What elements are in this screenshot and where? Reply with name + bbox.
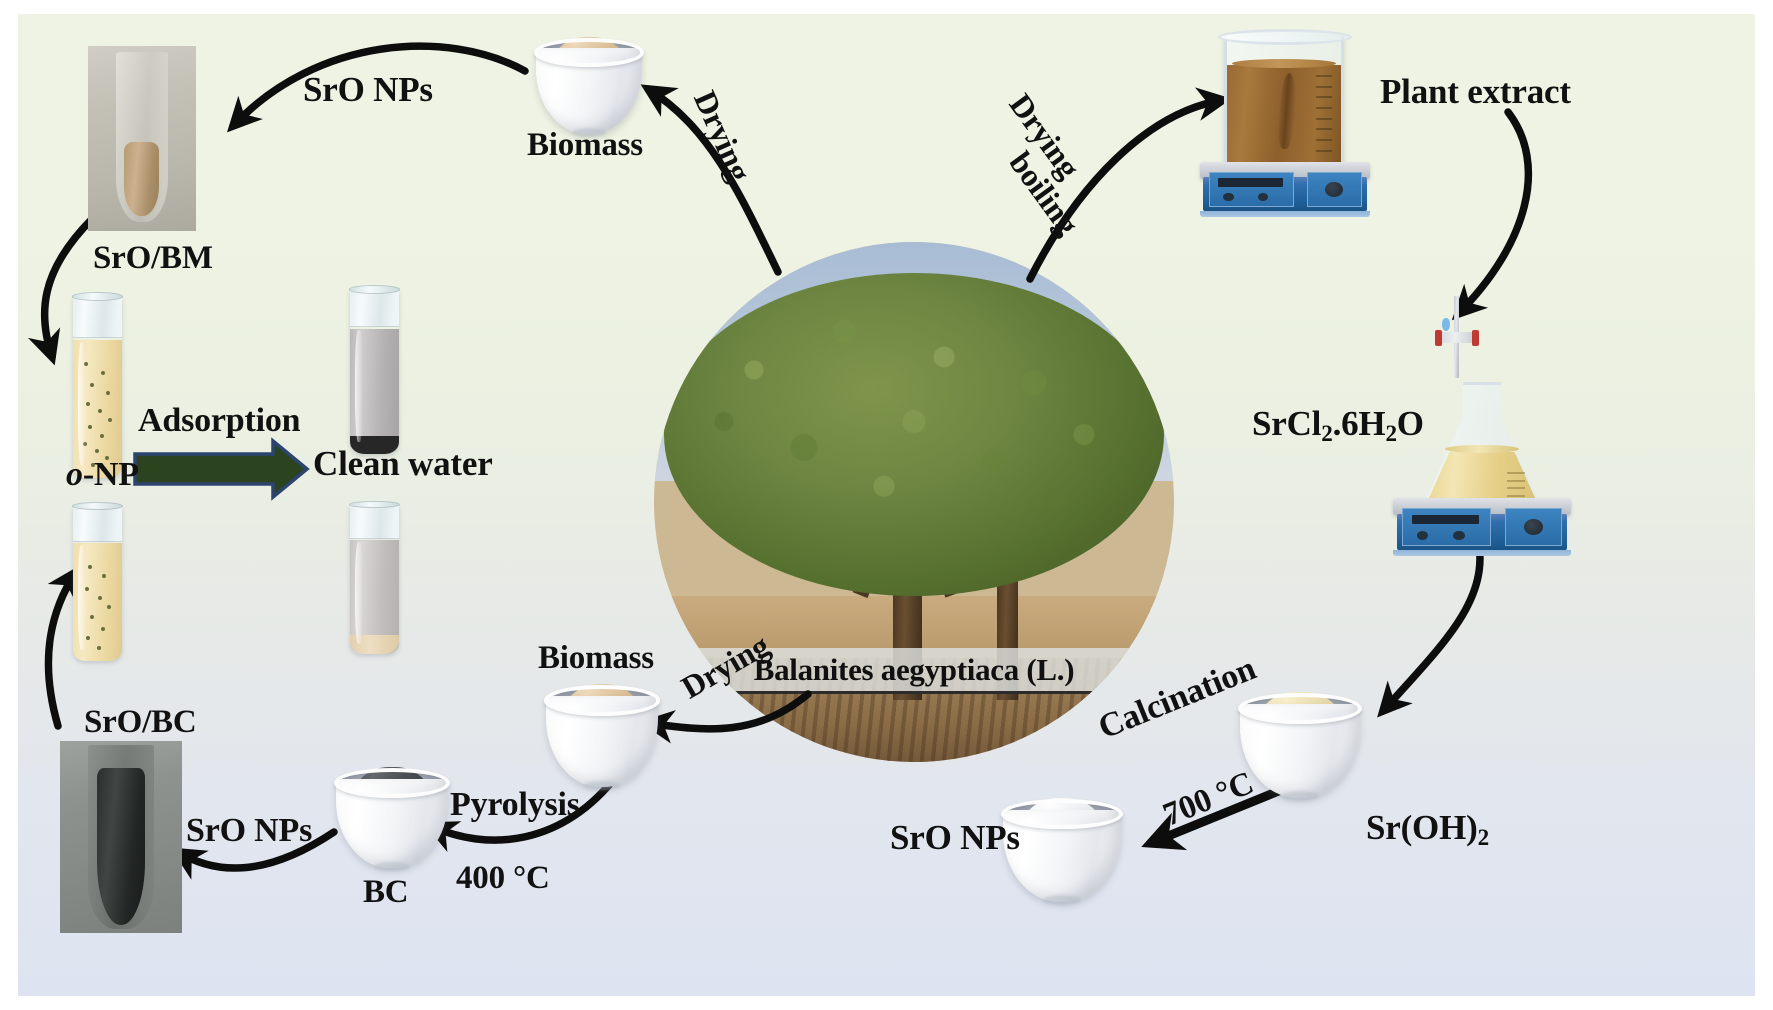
flask-srcl2 (1423, 382, 1541, 512)
bowl-foot (374, 862, 410, 872)
label-onp: o-NP (66, 458, 139, 492)
label-srcl2: SrCl2.6H2O (1252, 406, 1424, 445)
burette-handle-left[interactable] (1435, 330, 1442, 346)
hotplate-right-panel (1505, 508, 1562, 545)
water-droplet (1442, 318, 1451, 331)
tube-cap-top (349, 285, 400, 294)
hotplate-srcl2 (1393, 498, 1571, 556)
hotplate-display (1218, 178, 1283, 187)
label-sr-hydroxide: Sr(OH)2 (1366, 810, 1489, 849)
test-tube-clean-water-upper (350, 289, 399, 454)
burette-stand (1433, 296, 1481, 378)
tube-body (73, 296, 122, 478)
srcl2-mid: .6H (1333, 404, 1386, 443)
label-bc: BC (363, 876, 408, 909)
tube-body (350, 289, 399, 454)
beaker-spout (1218, 29, 1352, 45)
label-temp-700: 700 °C (1159, 767, 1258, 833)
glass-highlight (78, 342, 86, 466)
tube-cap (350, 289, 399, 327)
hotplate-base (1200, 211, 1370, 217)
bowl-rim-lip (1238, 693, 1362, 724)
graduation-marks (1307, 73, 1332, 155)
hotplate-knob-small-right[interactable] (1258, 193, 1269, 202)
bowl-foot (1043, 895, 1081, 905)
glass-highlight (355, 330, 363, 442)
test-tube-onp-upper (73, 296, 122, 478)
label-plant-extract: Plant extract (1380, 74, 1571, 109)
diagram-background: Balanites aegyptiaca (L.) (18, 14, 1755, 996)
test-tube-clean-water-lower (350, 504, 399, 654)
label-biomass-bottom: Biomass (538, 642, 654, 675)
srcl2-sub-2: 2 (1321, 420, 1332, 446)
arrow-extract-to-srcl2 (1458, 112, 1528, 314)
onp-italic-o: o (66, 456, 83, 493)
bowl-rim-lip (534, 38, 643, 67)
label-temp-400: 400 °C (456, 862, 550, 895)
tube-body (73, 506, 122, 661)
label-sro-nps-bottom: SrO NPs (186, 814, 312, 848)
tree-photograph: Balanites aegyptiaca (L.) (654, 242, 1174, 762)
bowl-biomass-top (536, 32, 642, 134)
bowl-biomass-bottom (546, 679, 658, 787)
srcl2-main: SrCl (1252, 404, 1321, 443)
hotplate-left-panel (1209, 172, 1294, 207)
tube-body (350, 504, 399, 654)
label-sro-bc: SrO/BC (84, 706, 196, 739)
test-tube-onp-lower (73, 506, 122, 661)
tube-cap (73, 506, 122, 542)
figure-canvas: Balanites aegyptiaca (L.) (0, 0, 1773, 1010)
arrow-sro-bc-to-onp-lower (48, 572, 76, 726)
bowl-foot (584, 781, 620, 791)
bowl-biochar (336, 762, 448, 868)
glass-highlight (78, 545, 86, 650)
arrow-adsorption (135, 441, 307, 497)
label-sro-bm: SrO/BM (93, 242, 213, 275)
hotplate-knob-large[interactable] (1524, 519, 1543, 535)
bowl-sro-nps (1003, 792, 1121, 902)
bowl-foot (1281, 791, 1319, 801)
photo-centrifuge-tube-light (88, 46, 196, 231)
tube-cap (350, 504, 399, 539)
srcl2-sub-2b: 2 (1385, 420, 1396, 446)
tube-cap (73, 296, 122, 338)
hotplate-left-panel (1402, 508, 1491, 545)
sr-oh-main: Sr(OH) (1366, 808, 1478, 847)
label-biomass-top: Biomass (527, 129, 643, 162)
glass-highlight (355, 542, 363, 644)
label-pyrolysis: Pyrolysis (450, 788, 580, 822)
label-sro-nps-top: SrO NPs (303, 72, 433, 107)
beaker-plant-extract (1224, 36, 1344, 171)
foliage-texture (664, 273, 1163, 595)
onp-rest: -NP (83, 456, 139, 493)
tree-canopy (664, 273, 1163, 595)
srcl2-end: O (1397, 404, 1424, 443)
hotplate-display (1412, 515, 1480, 524)
hotplate-knob-small-left[interactable] (1417, 531, 1428, 540)
photo-centrifuge-tube-dark (60, 741, 182, 933)
liquid-swirl (1277, 73, 1298, 150)
sr-oh-sub: 2 (1478, 824, 1489, 850)
bowl-rim-lip (544, 685, 659, 715)
hotplate-knob-small-right[interactable] (1453, 531, 1464, 540)
label-sro-nps-right: SrO NPs (890, 820, 1020, 855)
tube-sediment (124, 142, 160, 216)
hotplate-plant-extract (1200, 162, 1370, 217)
label-drying-top-center: Drying (689, 86, 757, 186)
beaker-glass (1224, 36, 1344, 171)
label-clean-water: Clean water (313, 446, 493, 481)
species-label: Balanites aegyptiaca (L.) (754, 652, 1075, 688)
label-adsorption: Adsorption (138, 404, 300, 438)
hotplate-knob-small-left[interactable] (1223, 193, 1234, 202)
bowl-sr-hydroxide (1240, 686, 1360, 798)
hotplate-knob-large[interactable] (1325, 182, 1343, 197)
hotplate-right-panel (1307, 172, 1361, 207)
flask-graduation-marks (1507, 464, 1525, 499)
burette-handle-right[interactable] (1472, 330, 1479, 346)
hotplate-base (1393, 550, 1571, 556)
bowl-rim-lip (334, 768, 449, 798)
tube-sediment (97, 768, 146, 925)
